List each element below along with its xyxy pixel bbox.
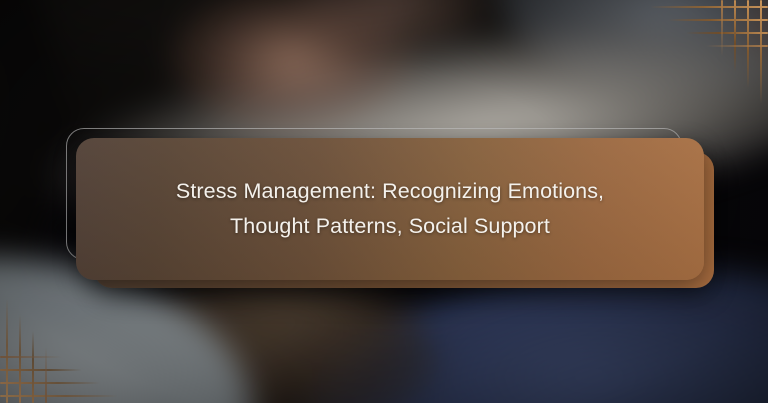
title-card-stack: Stress Management: Recognizing Emotions,… (66, 128, 706, 288)
corner-bracket-top-right-icon (638, 0, 768, 108)
title-card: Stress Management: Recognizing Emotions,… (76, 138, 704, 280)
page-title: Stress Management: Recognizing Emotions,… (134, 174, 646, 244)
hero-banner: Stress Management: Recognizing Emotions,… (0, 0, 768, 403)
corner-bracket-bottom-left-icon (0, 295, 130, 403)
